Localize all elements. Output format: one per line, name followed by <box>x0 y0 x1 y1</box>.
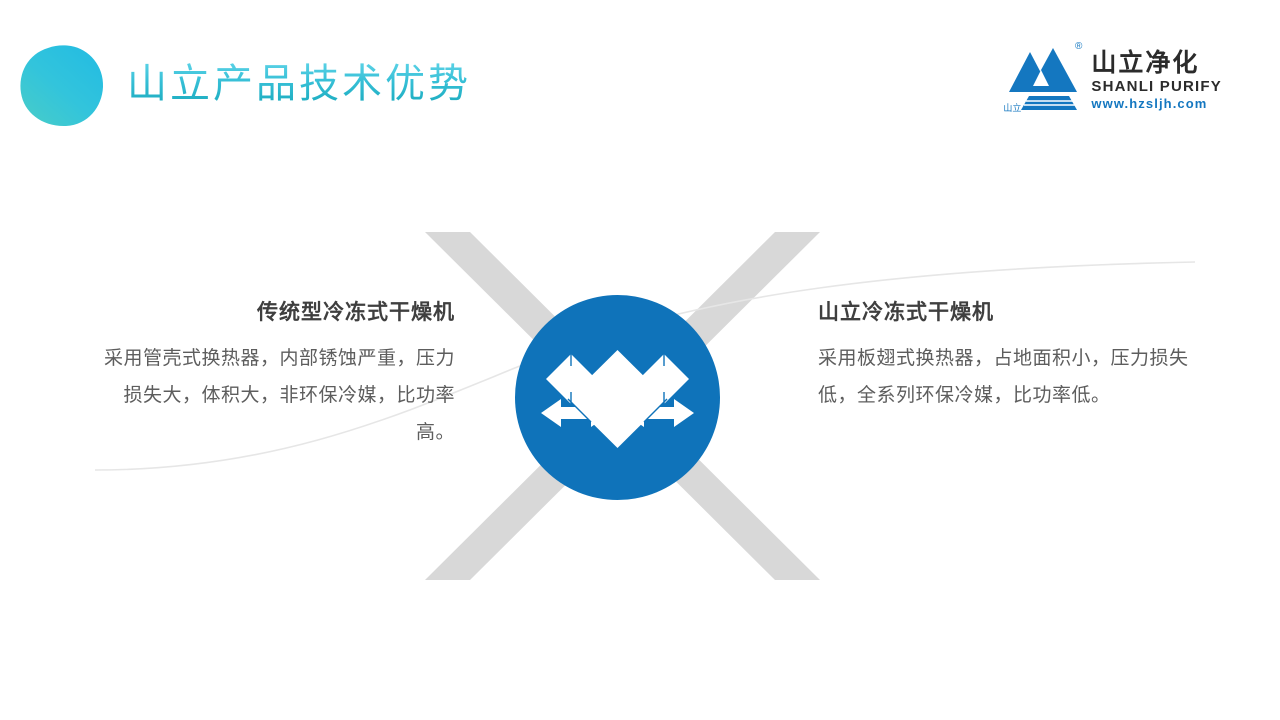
comparison-column-shanli: 山立冷冻式干燥机 采用板翅式换热器，占地面积小，压力损失低，全系列环保冷媒，比功… <box>818 300 1190 414</box>
brand-logo: ® 山立 山立净化 SHANLI PURIFY www.hzsljh.com <box>1003 40 1222 114</box>
logo-company-en: SHANLI PURIFY <box>1091 78 1222 95</box>
registered-trademark-icon: ® <box>1075 42 1082 52</box>
logo-text-block: 山立净化 SHANLI PURIFY www.hzsljh.com <box>1091 40 1222 112</box>
logo-website: www.hzsljh.com <box>1091 96 1222 112</box>
column-heading: 山立冷冻式干燥机 <box>818 300 1190 326</box>
column-body: 采用管壳式换热器，内部锈蚀严重，压力损失大，体积大，非环保冷媒，比功率高。 <box>85 340 455 451</box>
logo-company-cn: 山立净化 <box>1091 50 1222 77</box>
teal-blob-icon <box>18 44 106 128</box>
column-body: 采用板翅式换热器，占地面积小，压力损失低，全系列环保冷媒，比功率低。 <box>818 340 1190 414</box>
slide-canvas: 山立产品技术优势 ® 山立 山立净化 SHANLI PURIFY www.hzs… <box>0 0 1280 720</box>
logo-mark-caption: 山立 <box>1003 104 1021 113</box>
shanli-mountains-logo-icon: ® 山立 <box>1003 40 1083 114</box>
page-title: 山立产品技术优势 <box>127 60 471 108</box>
column-heading: 传统型冷冻式干燥机 <box>85 300 455 326</box>
compare-exchange-diamonds-icon <box>515 295 720 500</box>
comparison-column-traditional: 传统型冷冻式干燥机 采用管壳式换热器，内部锈蚀严重，压力损失大，体积大，非环保冷… <box>85 300 455 451</box>
